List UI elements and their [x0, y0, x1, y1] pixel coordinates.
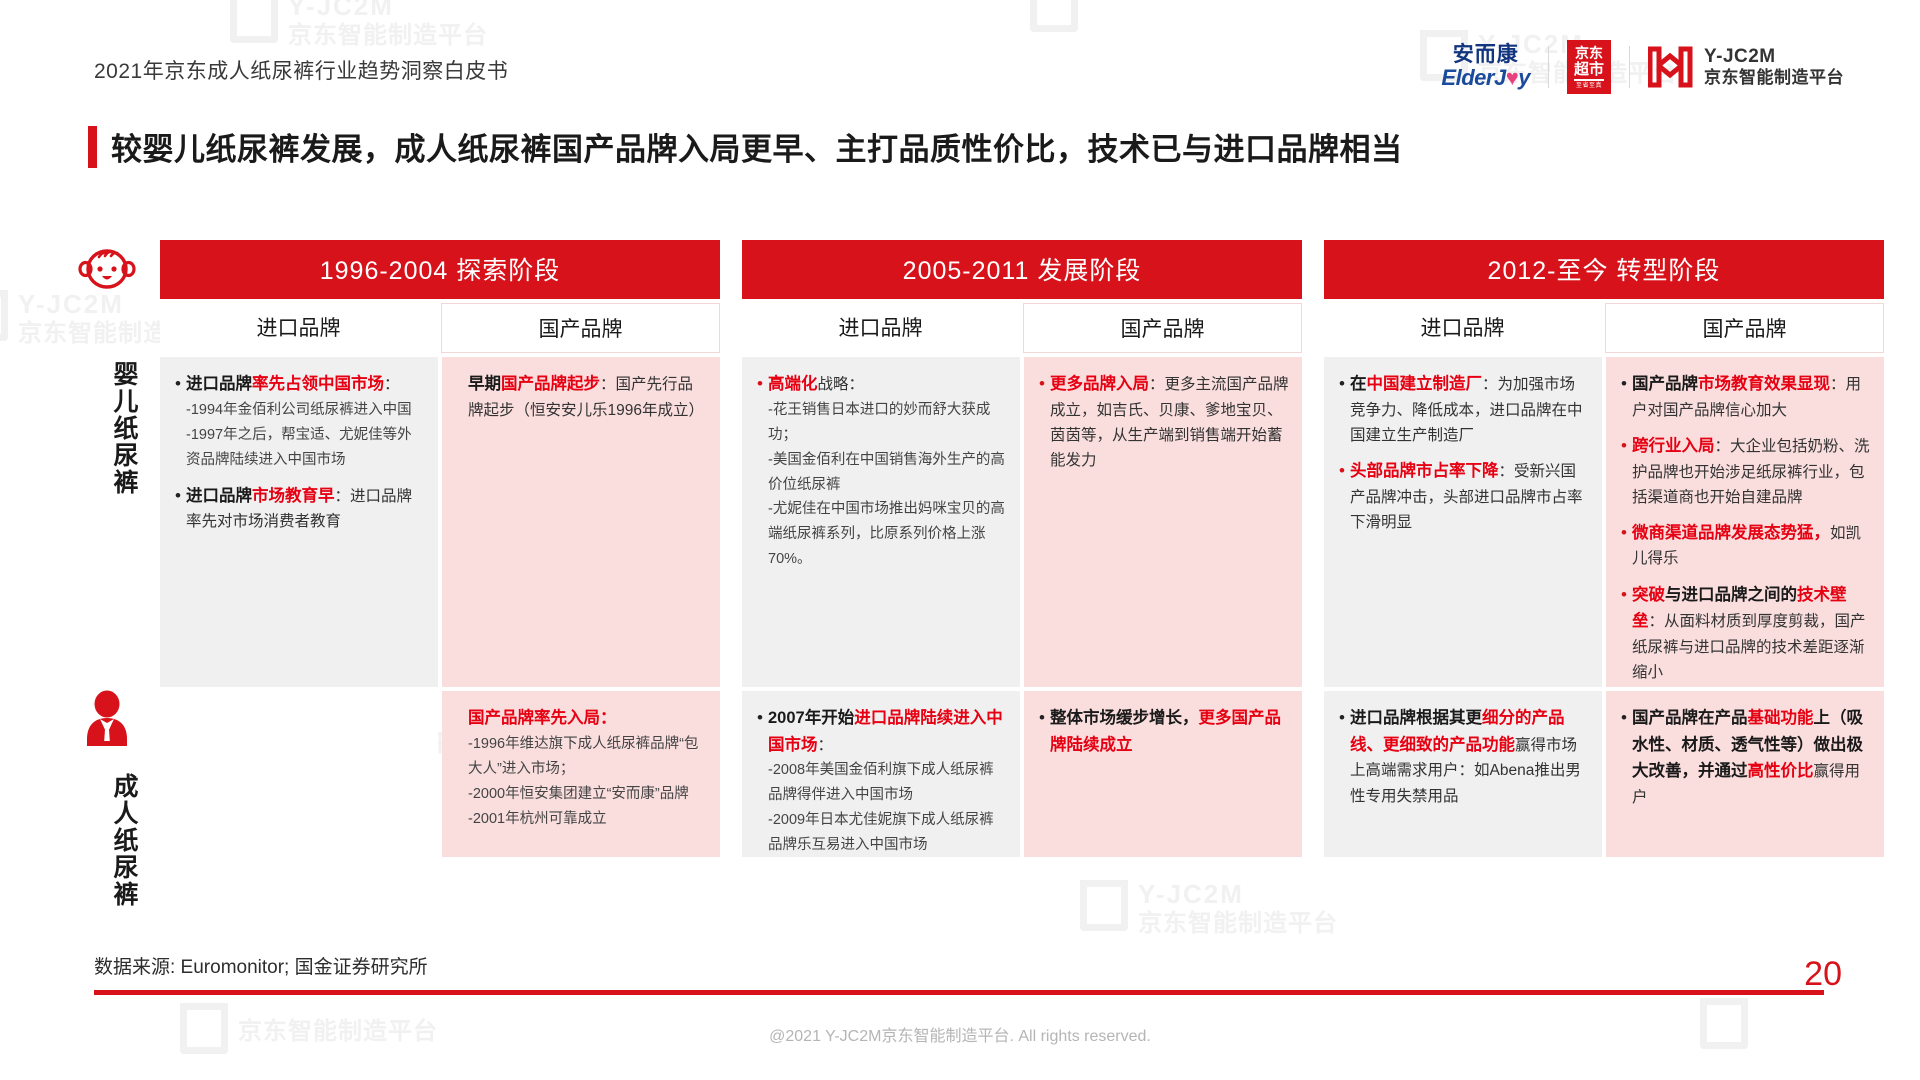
cell-adult-p3-import: •进口品牌根据其更细分的产品线、更细致的产品功能赢得市场上高端需求用户：如Abe…	[1324, 691, 1602, 857]
phase-header-row: 1996-2004 探索阶段 2005-2011 发展阶段 2012-至今 转型…	[160, 240, 1884, 299]
bullet-item: •微商渠道品牌发展态势猛，如凯儿得乐	[1616, 520, 1872, 572]
logo-divider	[1548, 46, 1549, 88]
jd-logo-line3: 至省至真	[1576, 83, 1602, 90]
watermark: Y-JC2M京东智能制造平台	[1080, 880, 1338, 937]
footer-rule	[94, 990, 1824, 995]
bullet-dot-icon: •	[752, 705, 768, 858]
bullet-item: •跨行业入局：大企业包括奶粉、洗护品牌也开始涉足纸尿裤行业，包括渠道商也开始自建…	[1616, 433, 1872, 510]
phase-header-2: 2005-2011 发展阶段	[742, 240, 1302, 299]
watermark-mark: Y-JC2M	[1138, 880, 1338, 910]
bullet-text: 进口品牌市场教育早：进口品牌率先对市场消费者教育	[186, 483, 426, 535]
bullet-item: •头部品牌市占率下降：受新兴国产品牌冲击，头部进口品牌市占率下滑明显	[1334, 458, 1590, 535]
bullet-dot-icon	[452, 705, 468, 831]
cell-baby-p3-domestic: •国产品牌市场教育效果显现：用户对国产品牌信心加大•跨行业入局：大企业包括奶粉、…	[1606, 357, 1884, 687]
watermark-logo-icon	[1080, 887, 1128, 931]
bullet-dot-icon: •	[170, 483, 186, 535]
phase-header-1: 1996-2004 探索阶段	[160, 240, 720, 299]
bullet-text: 早期国产品牌起步：国产先行品牌起步（恒安安儿乐1996年成立）	[468, 371, 708, 423]
watermark-logo-icon	[1030, 0, 1078, 32]
headline-text: 较婴儿纸尿裤发展，成人纸尿裤国产品牌入局更早、主打品质性价比，技术已与进口品牌相…	[111, 124, 1403, 169]
bullet-item: •2007年开始进口品牌陆续进入中国市场：-2008年美国金佰利旗下成人纸尿裤品…	[752, 705, 1008, 858]
bullet-text: 更多品牌入局：更多主流国产品牌成立，如吉氏、贝康、爹地宝贝、茵茵等，从生产端到销…	[1050, 371, 1290, 473]
yjc2m-logo-line1: Y-JC2M	[1704, 46, 1844, 68]
bullet-text: 跨行业入局：大企业包括奶粉、洗护品牌也开始涉足纸尿裤行业，包括渠道商也开始自建品…	[1632, 433, 1872, 510]
cell-adult-p3-domestic: •国产品牌在产品基础功能上（吸水性、材质、透气性等）做出极大改善，并通过高性价比…	[1606, 691, 1884, 857]
bullet-dot-icon: •	[1616, 520, 1632, 572]
bullet-text: 国产品牌率先入局：-1996年维达旗下成人纸尿裤品牌“包大人”进入市场；-200…	[468, 705, 708, 831]
watermark-logo-icon	[230, 0, 278, 43]
bullet-dot-icon: •	[1616, 582, 1632, 686]
bullet-text: 整体市场缓步增长，更多国产品牌陆续成立	[1050, 705, 1290, 758]
column-header-import-1: 进口品牌	[160, 303, 437, 353]
cell-adult-p1-import	[160, 691, 438, 857]
bullet-item: •突破与进口品牌之间的技术壁垒：从面料材质到厚度剪裁，国产纸尿裤与进口品牌的技术…	[1616, 582, 1872, 686]
page-title: 2021年京东成人纸尿裤行业趋势洞察白皮书	[94, 55, 508, 85]
phase-header-3: 2012-至今 转型阶段	[1324, 240, 1884, 299]
bullet-dot-icon: •	[1334, 458, 1350, 535]
yjc2m-mark-icon	[1648, 46, 1694, 88]
bullet-dot-icon: •	[752, 371, 768, 572]
cell-baby-p1-domestic: 早期国产品牌起步：国产先行品牌起步（恒安安儿乐1996年成立）	[442, 357, 720, 687]
watermark-logo-icon	[0, 297, 8, 341]
bullet-text: 头部品牌市占率下降：受新兴国产品牌冲击，头部进口品牌市占率下滑明显	[1350, 458, 1590, 535]
bullet-item: •整体市场缓步增长，更多国产品牌陆续成立	[1034, 705, 1290, 758]
bullet-dot-icon: •	[1616, 705, 1632, 810]
watermark-sub: 京东智能制造平台	[1138, 910, 1338, 938]
bullet-dot-icon: •	[1034, 371, 1050, 473]
bullet-item: •国产品牌市场教育效果显现：用户对国产品牌信心加大	[1616, 371, 1872, 423]
matrix-row-baby: •进口品牌率先占领中国市场：-1994年金佰利公司纸尿裤进入中国 -1997年之…	[160, 357, 1884, 687]
watermark	[1030, 0, 1078, 32]
data-source-note: 数据来源: Euromonitor; 国金证券研究所	[94, 952, 428, 979]
bullet-dot-icon: •	[1034, 705, 1050, 758]
bullet-text: 进口品牌率先占领中国市场：-1994年金佰利公司纸尿裤进入中国 -1997年之后…	[186, 371, 426, 473]
watermark-sub: 京东智能制造平台	[288, 22, 488, 50]
yjc2m-logo: Y-JC2M 京东智能制造平台	[1648, 46, 1844, 88]
bullet-text: 国产品牌市场教育效果显现：用户对国产品牌信心加大	[1632, 371, 1872, 423]
copyright-notice: @2021 Y-JC2M京东智能制造平台. All rights reserve…	[0, 1022, 1920, 1046]
cell-baby-p1-import: •进口品牌率先占领中国市场：-1994年金佰利公司纸尿裤进入中国 -1997年之…	[160, 357, 438, 687]
elderjoy-logo-en: ElderJ♥y	[1441, 66, 1530, 89]
bullet-text: 在中国建立制造厂：为加强市场竞争力、降低成本，进口品牌在中国建立生产制造厂	[1350, 371, 1590, 448]
column-header-domestic-2: 国产品牌	[1023, 303, 1302, 353]
brand-logos: 安而康 ElderJ♥y 京东 超市 至省至真 Y-JC2M 京东智能制造平台	[1441, 38, 1844, 96]
headline: 较婴儿纸尿裤发展，成人纸尿裤国产品牌入局更早、主打品质性价比，技术已与进口品牌相…	[88, 124, 1403, 169]
column-header-import-2: 进口品牌	[742, 303, 1019, 353]
bullet-item: •在中国建立制造厂：为加强市场竞争力、降低成本，进口品牌在中国建立生产制造厂	[1334, 371, 1590, 448]
bullet-dot-icon: •	[1616, 433, 1632, 510]
bullet-text: 进口品牌根据其更细分的产品线、更细致的产品功能赢得市场上高端需求用户：如Aben…	[1350, 705, 1590, 809]
bullet-dot-icon: •	[1616, 371, 1632, 423]
cell-adult-p1-domestic: 国产品牌率先入局：-1996年维达旗下成人纸尿裤品牌“包大人”进入市场；-200…	[442, 691, 720, 857]
bullet-dot-icon: •	[1334, 371, 1350, 448]
jd-logo-line1: 京东	[1575, 46, 1603, 61]
column-header-domestic-3: 国产品牌	[1605, 303, 1884, 353]
row-label-baby: 婴儿纸尿裤	[76, 348, 138, 508]
column-header-domestic-1: 国产品牌	[441, 303, 720, 353]
logo-divider	[1629, 46, 1630, 88]
cell-adult-p2-import: •2007年开始进口品牌陆续进入中国市场：-2008年美国金佰利旗下成人纸尿裤品…	[742, 691, 1020, 857]
elderjoy-logo-cn: 安而康	[1453, 44, 1519, 66]
bullet-item: 早期国产品牌起步：国产先行品牌起步（恒安安儿乐1996年成立）	[452, 371, 708, 423]
column-header-import-3: 进口品牌	[1324, 303, 1601, 353]
cell-baby-p3-import: •在中国建立制造厂：为加强市场竞争力、降低成本，进口品牌在中国建立生产制造厂•头…	[1324, 357, 1602, 687]
bullet-item: •进口品牌市场教育早：进口品牌率先对市场消费者教育	[170, 483, 426, 535]
phase-matrix: 1996-2004 探索阶段 2005-2011 发展阶段 2012-至今 转型…	[160, 240, 1884, 857]
jd-logo-line2: 超市	[1574, 62, 1604, 82]
matrix-row-adult: 国产品牌率先入局：-1996年维达旗下成人纸尿裤品牌“包大人”进入市场；-200…	[160, 691, 1884, 857]
watermark: Y-JC2M京东智能制造平台	[230, 0, 488, 49]
brand-type-header-row: 进口品牌 国产品牌 进口品牌 国产品牌 进口品牌 国产品牌	[160, 303, 1884, 353]
baby-face-icon	[78, 244, 136, 294]
bullet-dot-icon: •	[1334, 705, 1350, 809]
bullet-text: 国产品牌在产品基础功能上（吸水性、材质、透气性等）做出极大改善，并通过高性价比赢…	[1632, 705, 1872, 810]
yjc2m-logo-line2: 京东智能制造平台	[1704, 68, 1844, 88]
bullet-item: •进口品牌率先占领中国市场：-1994年金佰利公司纸尿裤进入中国 -1997年之…	[170, 371, 426, 473]
elderjoy-logo: 安而康 ElderJ♥y	[1441, 44, 1548, 89]
headline-accent-bar	[88, 126, 97, 168]
bullet-text: 高端化战略：-花王销售日本进口的妙而舒大获成功；-美国金佰利在中国销售海外生产的…	[768, 371, 1008, 572]
cell-baby-p2-import: •高端化战略：-花王销售日本进口的妙而舒大获成功；-美国金佰利在中国销售海外生产…	[742, 357, 1020, 687]
bullet-text: 突破与进口品牌之间的技术壁垒：从面料材质到厚度剪裁，国产纸尿裤与进口品牌的技术差…	[1632, 582, 1872, 686]
watermark-mark: Y-JC2M	[288, 0, 488, 22]
slide-root: Y-JC2M京东智能制造平台 Y-JC2M京东智能制造平台 Y-JC2M京东智能…	[0, 0, 1920, 1080]
bullet-item: •更多品牌入局：更多主流国产品牌成立，如吉氏、贝康、爹地宝贝、茵茵等，从生产端到…	[1034, 371, 1290, 473]
bullet-text: 微商渠道品牌发展态势猛，如凯儿得乐	[1632, 520, 1872, 572]
jd-supermarket-logo: 京东 超市 至省至真	[1567, 40, 1611, 94]
bullet-item: •国产品牌在产品基础功能上（吸水性、材质、透气性等）做出极大改善，并通过高性价比…	[1616, 705, 1872, 810]
row-label-adult: 成人纸尿裤	[76, 760, 138, 920]
bullet-dot-icon: •	[170, 371, 186, 473]
page-number: 20	[1804, 955, 1842, 994]
bullet-item: •进口品牌根据其更细分的产品线、更细致的产品功能赢得市场上高端需求用户：如Abe…	[1334, 705, 1590, 809]
bullet-dot-icon	[452, 371, 468, 423]
bullet-item: 国产品牌率先入局：-1996年维达旗下成人纸尿裤品牌“包大人”进入市场；-200…	[452, 705, 708, 831]
adult-person-icon	[84, 690, 130, 746]
cell-adult-p2-domestic: •整体市场缓步增长，更多国产品牌陆续成立	[1024, 691, 1302, 857]
bullet-text: 2007年开始进口品牌陆续进入中国市场：-2008年美国金佰利旗下成人纸尿裤品牌…	[768, 705, 1008, 858]
cell-baby-p2-domestic: •更多品牌入局：更多主流国产品牌成立，如吉氏、贝康、爹地宝贝、茵茵等，从生产端到…	[1024, 357, 1302, 687]
bullet-item: •高端化战略：-花王销售日本进口的妙而舒大获成功；-美国金佰利在中国销售海外生产…	[752, 371, 1008, 572]
